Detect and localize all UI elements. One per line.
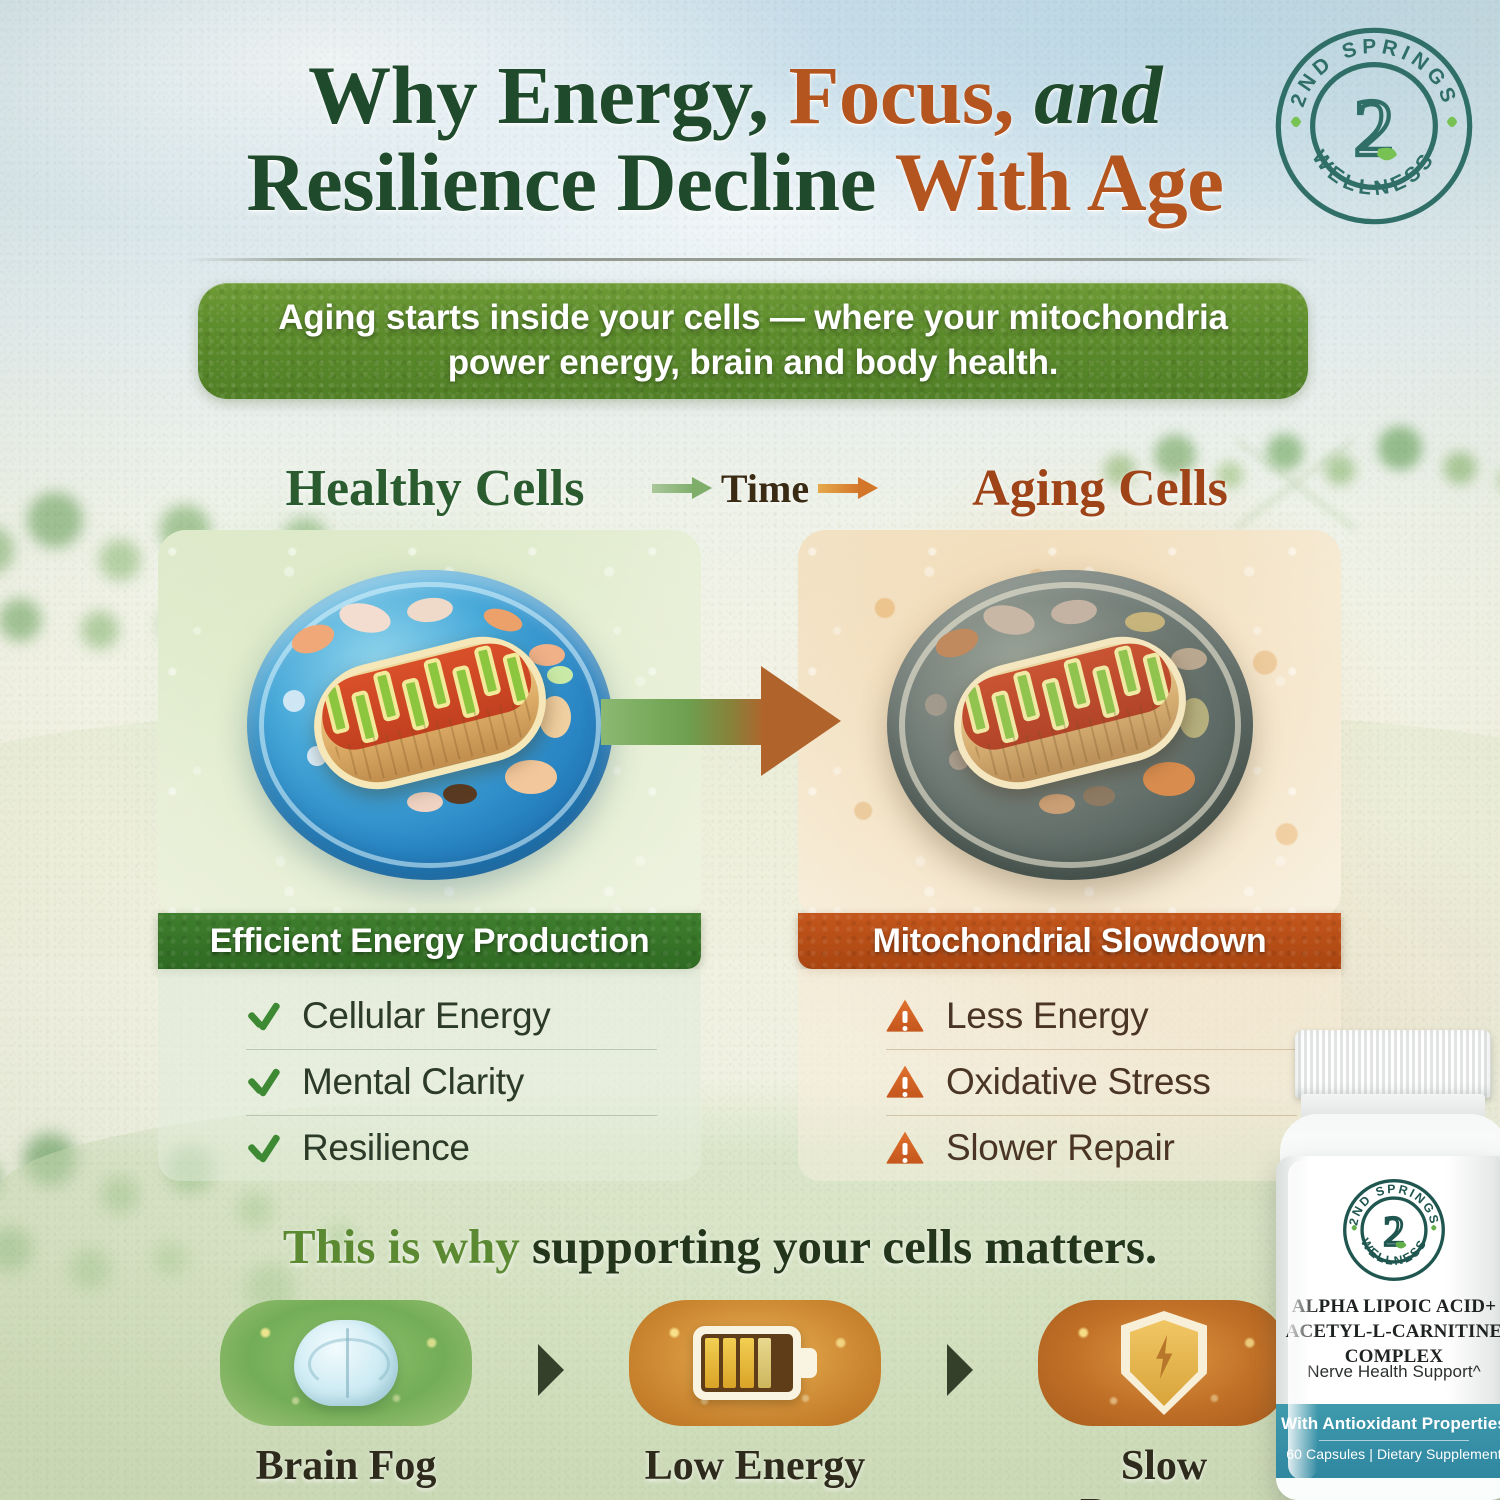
infographic-canvas: 2ND SPRINGS WELLNESS 2 Why Energy, Focus… bbox=[0, 0, 1500, 1500]
product-subtitle: Nerve Health Support^ bbox=[1276, 1362, 1500, 1382]
check-icon bbox=[246, 1131, 280, 1165]
product-title-line-1: ALPHA LIPOIC ACID+ bbox=[1280, 1294, 1500, 1319]
warning-icon bbox=[886, 1131, 924, 1165]
bottle-logo-badge: 2ND SPRINGS WELLNESS 2 bbox=[1338, 1174, 1450, 1286]
product-bottle: 2ND SPRINGS WELLNESS 2 ALPHA LIPOIC ACID… bbox=[1268, 1030, 1500, 1500]
efficient-energy-production-label: Efficient Energy Production bbox=[210, 922, 650, 961]
list-item-label: Less Energy bbox=[946, 995, 1148, 1037]
flow-step-slow-recovery: Slow Recovery bbox=[1038, 1300, 1290, 1500]
list-item: Slower Repair bbox=[798, 1115, 1341, 1181]
flow-step-label: Slow Recovery bbox=[1038, 1442, 1290, 1500]
arrow-right-orange-icon bbox=[818, 477, 878, 499]
brain-tile bbox=[220, 1300, 472, 1426]
time-transition-group: Time bbox=[620, 465, 910, 512]
healthy-cells-header: Healthy Cells bbox=[255, 459, 615, 518]
comparison-header-row: Healthy Cells Time Aging Cells bbox=[0, 452, 1500, 524]
product-claim-band: With Antioxidant Properties 60 Capsules … bbox=[1276, 1404, 1500, 1478]
flow-step-low-energy: Low Energy bbox=[629, 1300, 881, 1490]
subtitle-banner: Aging starts inside your cells — where y… bbox=[198, 283, 1308, 399]
mitochondrial-slowdown-label: Mitochondrial Slowdown bbox=[873, 922, 1267, 961]
brain-icon bbox=[294, 1320, 398, 1406]
headline-part-5: With Age bbox=[895, 136, 1224, 228]
tagline-part-2: supporting your cells matters. bbox=[532, 1219, 1157, 1274]
flow-step-brain-fog: Brain Fog bbox=[220, 1300, 472, 1490]
list-item-label: Mental Clarity bbox=[302, 1061, 524, 1103]
headline-part-1: Why Energy, bbox=[308, 49, 768, 141]
bottle-cap bbox=[1295, 1030, 1491, 1098]
svg-text:2: 2 bbox=[1383, 1209, 1404, 1256]
arrow-right-green-icon bbox=[652, 477, 712, 499]
list-item: Resilience bbox=[158, 1115, 701, 1181]
flow-step-label: Low Energy bbox=[629, 1442, 881, 1490]
headline-part-3: and bbox=[1034, 49, 1162, 141]
flow-step-label: Brain Fog bbox=[220, 1442, 472, 1490]
chevron-right-icon bbox=[538, 1344, 564, 1396]
aging-cell-graphic bbox=[887, 570, 1253, 880]
check-icon bbox=[246, 999, 280, 1033]
efficient-energy-production-bar: Efficient Energy Production bbox=[158, 913, 701, 969]
list-item-label: Cellular Energy bbox=[302, 995, 550, 1037]
page-title: Why Energy, Focus, and Resilience Declin… bbox=[0, 52, 1500, 226]
shield-icon bbox=[1121, 1311, 1207, 1415]
headline-divider bbox=[185, 258, 1320, 261]
shield-tile bbox=[1038, 1300, 1290, 1426]
product-claim: With Antioxidant Properties bbox=[1276, 1414, 1500, 1434]
bottle-label: 2ND SPRINGS WELLNESS 2 ALPHA LIPOIC ACID… bbox=[1276, 1156, 1500, 1500]
product-title: ALPHA LIPOIC ACID+ ACETYL-L-CARNITINE CO… bbox=[1280, 1294, 1500, 1369]
warning-icon bbox=[886, 999, 924, 1033]
list-item-label: Slower Repair bbox=[946, 1127, 1174, 1169]
headline-part-4: Resilience Decline bbox=[246, 136, 875, 228]
aging-symptoms-list: Less Energy Oxidative Stress Slower Repa… bbox=[798, 969, 1341, 1181]
chevron-right-icon bbox=[947, 1344, 973, 1396]
aging-cells-header: Aging Cells bbox=[915, 459, 1285, 518]
battery-icon bbox=[693, 1326, 817, 1400]
aging-cell-illustration-panel bbox=[798, 530, 1341, 920]
list-item: Oxidative Stress bbox=[798, 1049, 1341, 1115]
warning-icon bbox=[886, 1065, 924, 1099]
aging-transition-arrow-icon bbox=[601, 666, 841, 776]
time-label: Time bbox=[721, 465, 809, 512]
list-item: Mental Clarity bbox=[158, 1049, 701, 1115]
battery-tile bbox=[629, 1300, 881, 1426]
check-icon bbox=[246, 1065, 280, 1099]
list-item-label: Oxidative Stress bbox=[946, 1061, 1211, 1103]
list-item: Cellular Energy bbox=[158, 983, 701, 1049]
symptom-flow-row: Brain Fog Low Energy bbox=[220, 1300, 1290, 1500]
tagline-part-1: This is why bbox=[283, 1219, 532, 1274]
mitochondrial-slowdown-bar: Mitochondrial Slowdown bbox=[798, 913, 1341, 969]
list-item: Less Energy bbox=[798, 983, 1341, 1049]
product-count: 60 Capsules | Dietary Supplement bbox=[1276, 1446, 1500, 1462]
list-item-label: Resilience bbox=[302, 1127, 470, 1169]
healthy-cell-graphic bbox=[247, 570, 613, 880]
subtitle-text: Aging starts inside your cells — where y… bbox=[198, 296, 1308, 386]
healthy-benefits-list: Cellular Energy Mental Clarity Resilienc… bbox=[158, 969, 701, 1181]
headline-part-2: Focus, bbox=[789, 49, 1014, 141]
